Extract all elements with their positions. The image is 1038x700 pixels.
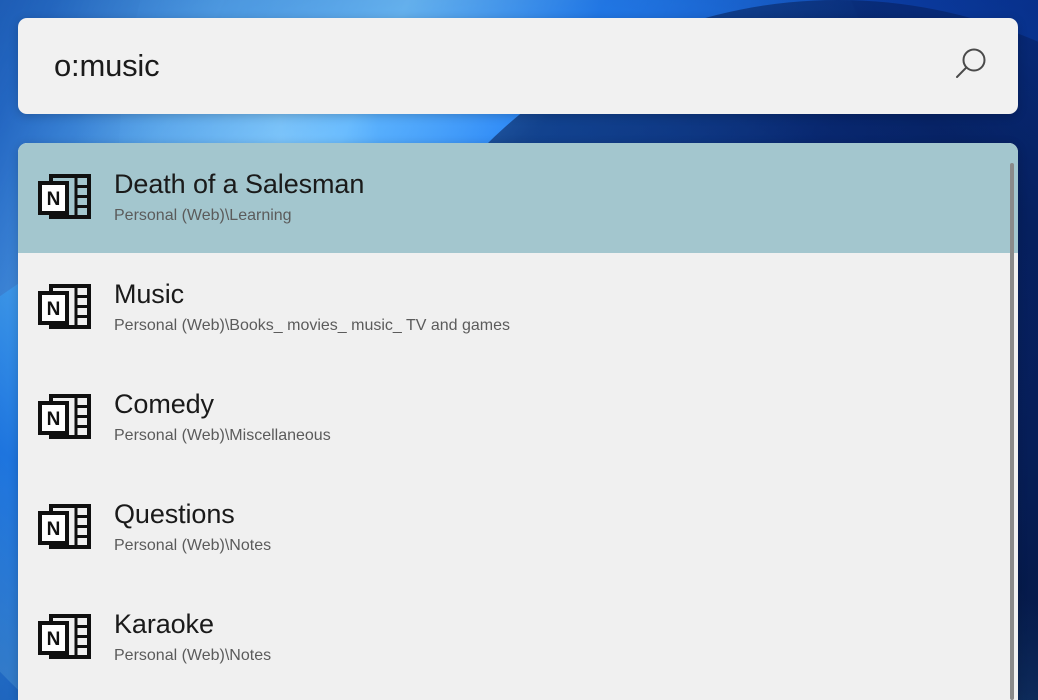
svg-text:N: N [47,299,61,320]
search-icon [949,44,991,89]
svg-text:N: N [47,519,61,540]
onenote-icon: N [36,279,94,337]
result-item-text: Music Personal (Web)\Books_ movies_ musi… [114,279,510,337]
search-button[interactable] [922,18,1018,114]
result-item-4[interactable]: N Karaoke Personal (Web)\Notes [18,583,1018,693]
onenote-icon: N [36,389,94,447]
svg-text:N: N [47,189,61,210]
search-results-list: N Death of a Salesman Personal (Web)\Lea… [18,143,1018,693]
search-results-panel: N Death of a Salesman Personal (Web)\Lea… [18,143,1018,700]
onenote-icon: N [36,169,94,227]
result-item-title: Comedy [114,389,331,420]
result-item-subtitle: Personal (Web)\Notes [114,644,271,667]
result-item-title: Questions [114,499,271,530]
results-scrollbar-thumb[interactable] [1010,163,1014,700]
result-item-title: Death of a Salesman [114,169,364,200]
search-box[interactable] [18,18,1018,114]
result-item-1[interactable]: N Music Personal (Web)\Books_ movies_ mu… [18,253,1018,363]
result-item-3[interactable]: N Questions Personal (Web)\Notes [18,473,1018,583]
result-item-title: Karaoke [114,609,271,640]
onenote-icon: N [36,499,94,557]
result-item-text: Comedy Personal (Web)\Miscellaneous [114,389,331,447]
desktop-wallpaper: N Death of a Salesman Personal (Web)\Lea… [0,0,1038,700]
result-item-subtitle: Personal (Web)\Books_ movies_ music_ TV … [114,314,510,337]
search-input[interactable] [18,48,922,84]
result-item-2[interactable]: N Comedy Personal (Web)\Miscellaneous [18,363,1018,473]
svg-text:N: N [47,409,61,430]
result-item-subtitle: Personal (Web)\Miscellaneous [114,424,331,447]
svg-text:N: N [47,629,61,650]
results-scrollbar[interactable] [1008,143,1016,700]
result-item-title: Music [114,279,510,310]
onenote-icon: N [36,609,94,667]
result-item-0[interactable]: N Death of a Salesman Personal (Web)\Lea… [18,143,1018,253]
result-item-text: Death of a Salesman Personal (Web)\Learn… [114,169,364,227]
result-item-subtitle: Personal (Web)\Learning [114,204,364,227]
result-item-text: Questions Personal (Web)\Notes [114,499,271,557]
result-item-text: Karaoke Personal (Web)\Notes [114,609,271,667]
result-item-subtitle: Personal (Web)\Notes [114,534,271,557]
